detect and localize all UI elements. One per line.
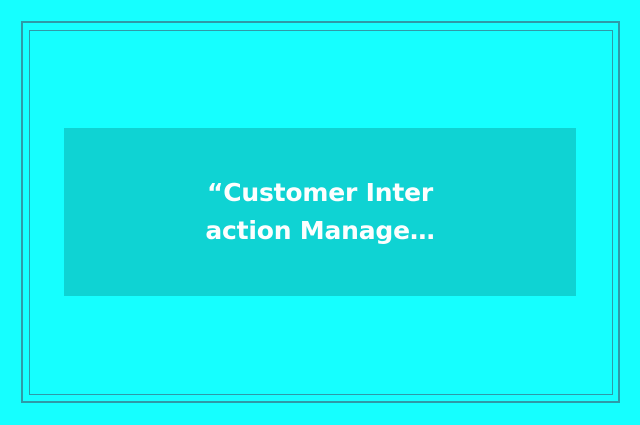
quote-panel: “Customer Inter action Manage…	[64, 128, 576, 296]
quote-text-block: “Customer Inter action Manage…	[64, 174, 576, 250]
quote-line-2: action Manage…	[64, 212, 576, 250]
quote-card-canvas: “Customer Inter action Manage…	[0, 0, 640, 425]
quote-line-1: “Customer Inter	[64, 174, 576, 212]
